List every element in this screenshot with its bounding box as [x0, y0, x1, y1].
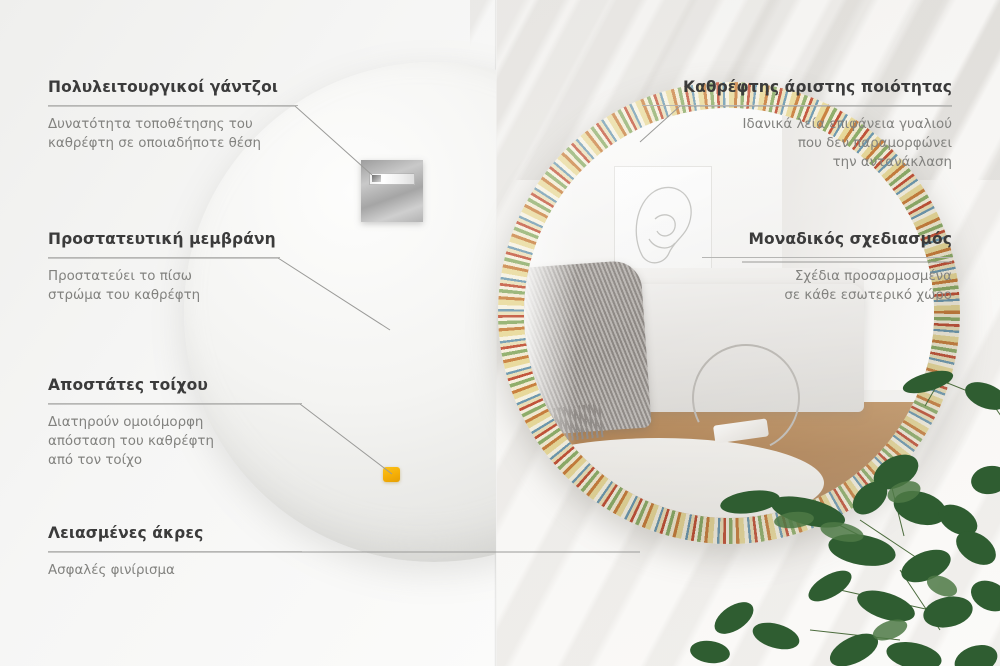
callout-spacers-body: Διατηρούν ομοιόμορφη απόσταση του καθρέφ… [48, 413, 302, 470]
infographic-stage: Πολυλειτουργικοί γάντζοι Δυνατότητα τοπο… [0, 0, 1000, 666]
leaves-icon [690, 360, 1000, 666]
callout-edges-rule [48, 551, 302, 552]
callout-spacers-title: Αποστάτες τοίχου [48, 376, 302, 394]
callout-edges-body: Ασφαλές φινίρισμα [48, 561, 302, 580]
hook-plate [361, 160, 423, 222]
callout-edges: Λειασμένες άκρες Ασφαλές φινίρισμα [48, 524, 302, 580]
callout-hooks-body: Δυνατότητα τοποθέτησης του καθρέφτη σε ο… [48, 115, 298, 153]
callout-hooks-rule [48, 105, 298, 106]
callout-design: Μοναδικός σχεδιασμός Σχέδια προσαρμοσμέν… [702, 230, 952, 305]
callout-membrane-body: Προστατεύει το πίσω στρώμα του καθρέφτη [48, 267, 280, 305]
callout-quality-title: Καθρέφτης άριστης ποιότητας [642, 78, 952, 96]
callout-membrane-rule [48, 257, 280, 258]
callout-edges-title: Λειασμένες άκρες [48, 524, 302, 542]
callout-quality-rule [642, 105, 952, 106]
callout-spacers: Αποστάτες τοίχου Διατηρούν ομοιόμορφη απ… [48, 376, 302, 470]
callout-design-rule [702, 257, 952, 258]
callout-hooks-title: Πολυλειτουργικοί γάντζοι [48, 78, 298, 96]
callout-membrane-title: Προστατευτική μεμβράνη [48, 230, 280, 248]
hook-slot-icon [369, 173, 415, 185]
callout-design-title: Μοναδικός σχεδιασμός [702, 230, 952, 248]
callout-quality-body: Ιδανικά λεία επιφάνεια γυαλιού που δεν π… [642, 115, 952, 172]
callout-hooks: Πολυλειτουργικοί γάντζοι Δυνατότητα τοπο… [48, 78, 298, 153]
callout-membrane: Προστατευτική μεμβράνη Προστατεύει το πί… [48, 230, 280, 305]
foliage-decor [690, 360, 1000, 666]
callout-spacers-rule [48, 403, 302, 404]
callout-design-body: Σχέδια προσαρμοσμένα σε κάθε εσωτερικό χ… [702, 267, 952, 305]
callout-quality: Καθρέφτης άριστης ποιότητας Ιδανικά λεία… [642, 78, 952, 172]
wall-spacer [383, 467, 400, 482]
